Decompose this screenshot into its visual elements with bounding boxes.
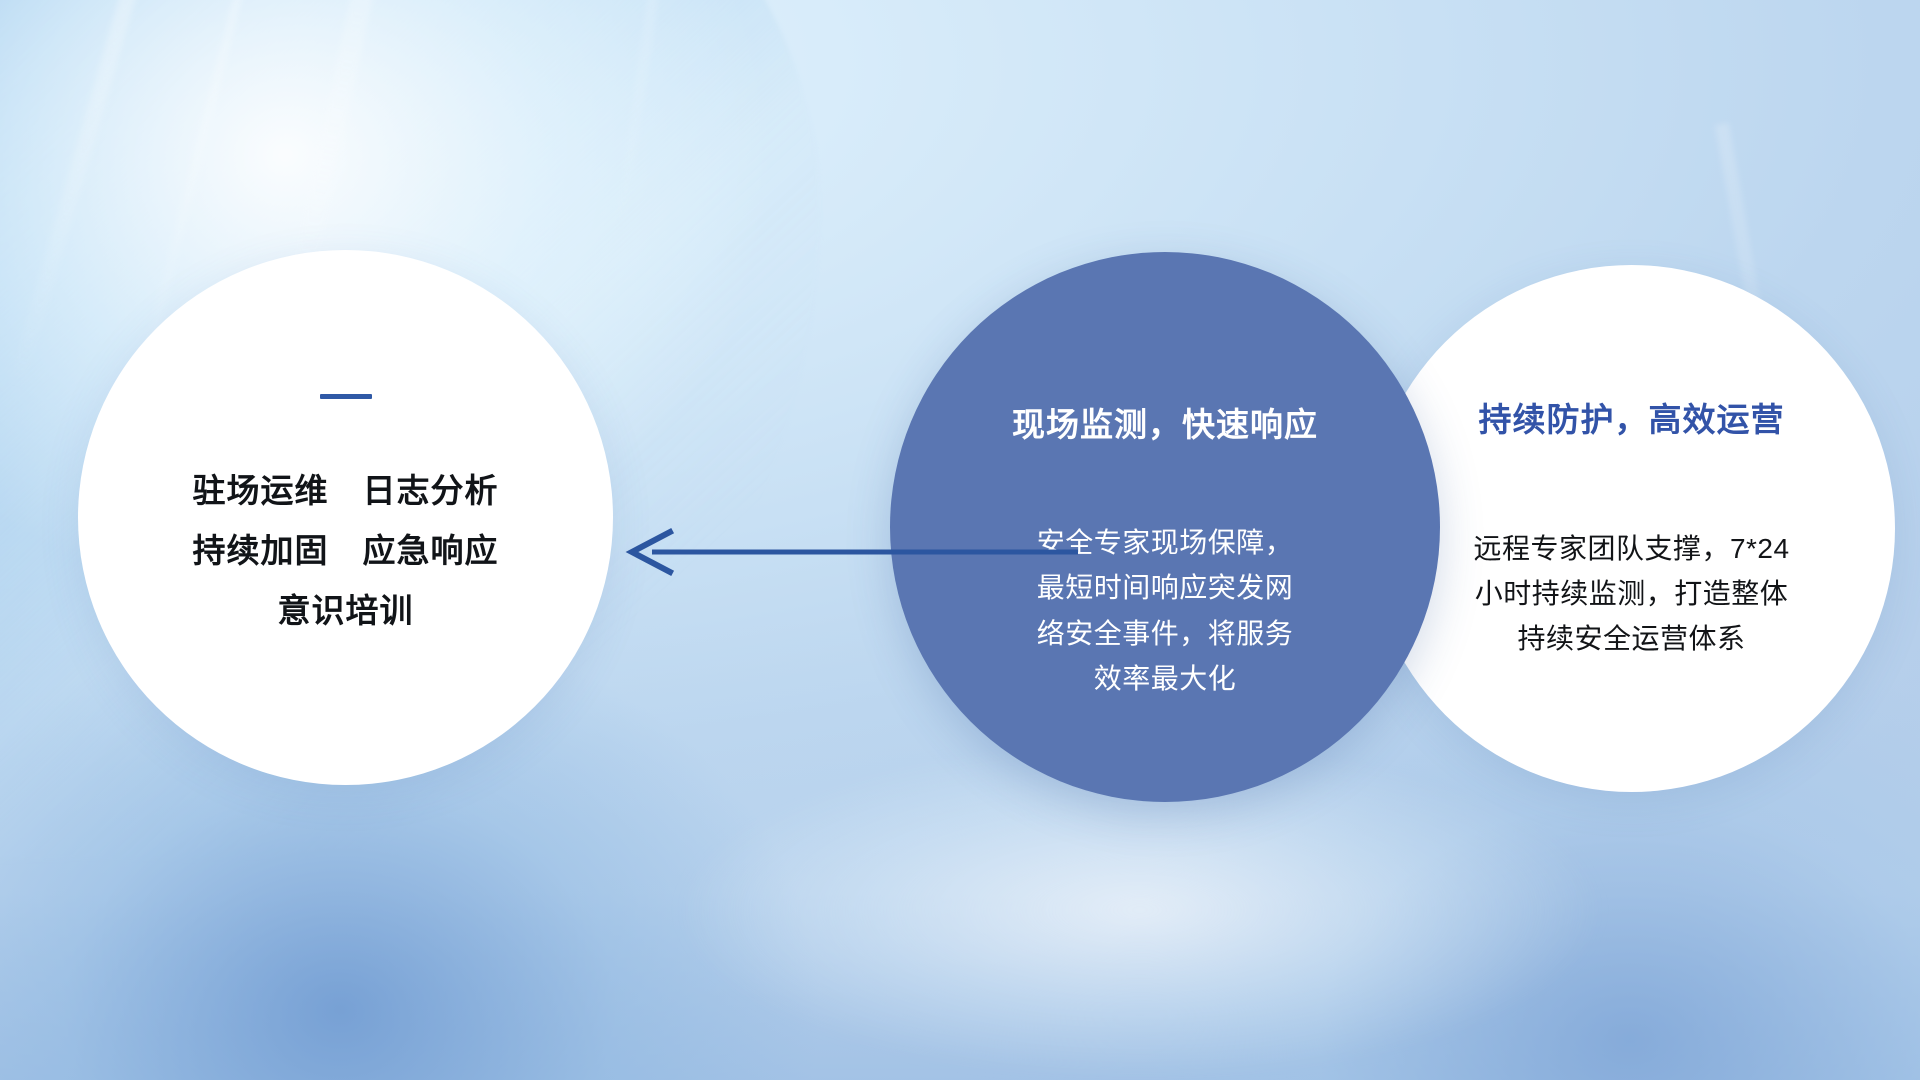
capability-line-2: 持续加固 应急响应 bbox=[193, 521, 499, 581]
capability-line-3: 意识培训 bbox=[193, 581, 499, 641]
flow-arrow-left bbox=[610, 522, 1080, 582]
right-body-line-3: 持续安全运营体系 bbox=[1422, 617, 1842, 662]
slide-canvas: 驻场运维 日志分析 持续加固 应急响应 意识培训 持续防护，高效运营 远程专家团… bbox=[0, 0, 1920, 1080]
center-body-line-3: 络安全事件，将服务 bbox=[995, 611, 1335, 656]
center-body-line-4: 效率最大化 bbox=[995, 656, 1335, 701]
capability-list: 驻场运维 日志分析 持续加固 应急响应 意识培训 bbox=[193, 461, 499, 641]
arrow-left-icon bbox=[610, 522, 1080, 582]
capability-circle-right: 持续防护，高效运营 远程专家团队支撑，7*24 小时持续监测，打造整体 持续安全… bbox=[1368, 265, 1895, 792]
right-circle-body: 远程专家团队支撑，7*24 小时持续监测，打造整体 持续安全运营体系 bbox=[1422, 527, 1842, 661]
center-circle-title: 现场监测，快速响应 bbox=[1012, 398, 1318, 446]
right-body-line-2: 小时持续监测，打造整体 bbox=[1422, 572, 1842, 617]
divider-dash bbox=[320, 394, 372, 399]
right-body-line-1: 远程专家团队支撑，7*24 bbox=[1422, 527, 1842, 572]
capability-circle-left: 驻场运维 日志分析 持续加固 应急响应 意识培训 bbox=[78, 250, 613, 785]
capability-line-1: 驻场运维 日志分析 bbox=[193, 461, 499, 521]
right-circle-title: 持续防护，高效运营 bbox=[1479, 393, 1785, 441]
